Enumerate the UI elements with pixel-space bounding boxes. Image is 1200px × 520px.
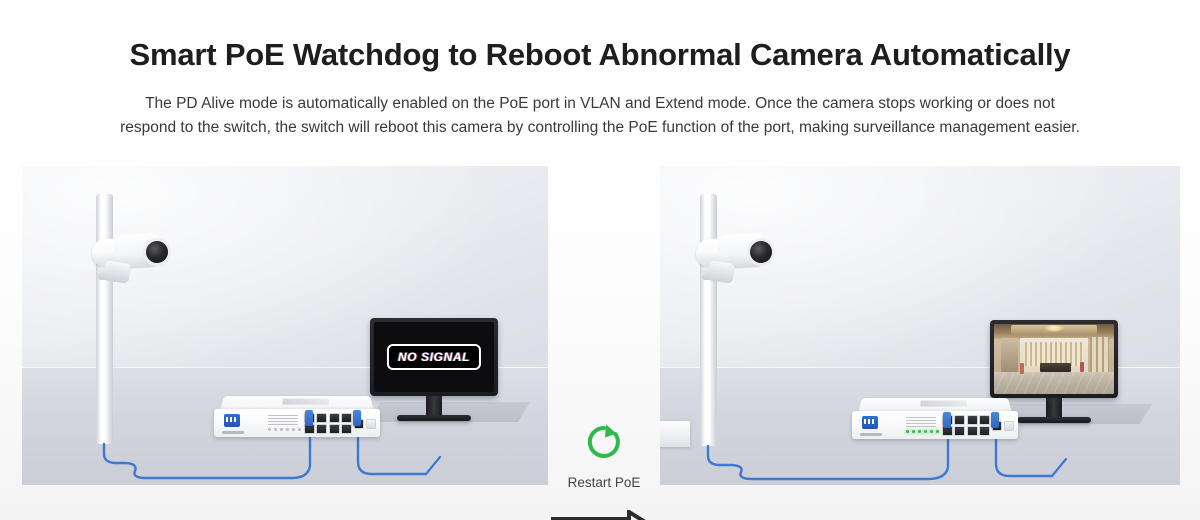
- rj45-port: [316, 413, 327, 423]
- status-led: [280, 428, 283, 431]
- lobby-right-column: [1090, 337, 1109, 375]
- rj45-port: [316, 424, 327, 434]
- monitor-bezel: NO SIGNAL: [370, 318, 498, 396]
- cable-plug-camera: [943, 412, 951, 428]
- monitor-base: [397, 415, 471, 421]
- rj45-port: [967, 415, 978, 425]
- page-description: The PD Alive mode is automatically enabl…: [20, 92, 1180, 140]
- rj45-port: [329, 424, 340, 434]
- monitor-screen: NO SIGNAL: [374, 322, 494, 392]
- switch-led-row: [906, 430, 946, 434]
- rj45-port: [329, 413, 340, 423]
- description-line-1: The PD Alive mode is automatically enabl…: [145, 95, 1055, 112]
- rj45-port: [954, 426, 965, 436]
- status-led: [924, 430, 927, 433]
- no-signal-box: NO SIGNAL: [387, 344, 481, 370]
- lobby-left-column: [1001, 338, 1018, 373]
- description-line-2: respond to the switch, the switch will r…: [20, 116, 1180, 140]
- switch-model-label: [860, 433, 882, 436]
- status-led: [912, 430, 915, 433]
- status-led: [930, 430, 933, 433]
- poe-watchdog-feature-page: Smart PoE Watchdog to Reboot Abnormal Ca…: [0, 0, 1200, 520]
- status-led: [918, 430, 921, 433]
- status-led: [292, 428, 295, 431]
- rj45-port: [954, 415, 965, 425]
- double-line-right-arrow-icon: [551, 510, 657, 520]
- status-led: [268, 428, 271, 431]
- monitor-base: [1017, 417, 1091, 423]
- panel-after: [660, 166, 1180, 485]
- surveillance-video-feed: [994, 324, 1114, 394]
- monitor-no-signal: NO SIGNAL: [370, 318, 498, 421]
- lobby-marble-floor: [994, 372, 1114, 394]
- transition-indicator: Restart PoE: [548, 332, 660, 520]
- monitor-screen: [994, 324, 1114, 394]
- status-led: [286, 428, 289, 431]
- scene-comparison: NO SIGNAL: [0, 166, 1200, 486]
- status-led: [274, 428, 277, 431]
- switch-port-legend: [906, 417, 936, 427]
- cable-plug-uplink: [991, 412, 999, 428]
- chandelier-icon: [1044, 325, 1063, 333]
- status-led: [298, 428, 301, 431]
- lobby-person: [1080, 362, 1084, 373]
- restart-poe-label: Restart PoE: [568, 475, 641, 490]
- page-title: Smart PoE Watchdog to Reboot Abnormal Ca…: [0, 38, 1200, 72]
- uplink-port: [366, 419, 376, 429]
- switch-led-row: [268, 428, 308, 432]
- panel-before: NO SIGNAL: [22, 166, 548, 485]
- rj45-port: [341, 413, 352, 423]
- brand-logo-badge-icon: [862, 416, 878, 429]
- switch-brand-mark: [282, 399, 329, 405]
- status-led: [906, 430, 909, 433]
- monitor-bezel: [990, 320, 1118, 398]
- cable-plug-camera: [305, 410, 313, 426]
- refresh-circular-arrow-icon: [584, 422, 624, 467]
- lobby-person: [1020, 363, 1024, 374]
- monitor-neck: [426, 396, 442, 415]
- switch-port-legend: [268, 415, 298, 425]
- brand-logo-badge-icon: [224, 414, 240, 427]
- monitor-neck: [1046, 398, 1062, 417]
- rj45-port: [967, 426, 978, 436]
- uplink-port: [1004, 421, 1014, 431]
- floor-accessory-box: [660, 421, 690, 447]
- lobby-reception-desk: [1040, 363, 1071, 372]
- cable-plug-uplink: [353, 410, 361, 426]
- no-signal-text: NO SIGNAL: [398, 350, 470, 364]
- switch-model-label: [222, 431, 244, 434]
- rj45-port: [979, 415, 990, 425]
- rj45-port: [341, 424, 352, 434]
- rj45-port: [979, 426, 990, 436]
- header: Smart PoE Watchdog to Reboot Abnormal Ca…: [0, 0, 1200, 140]
- switch-brand-mark: [920, 401, 967, 407]
- status-led: [936, 430, 939, 433]
